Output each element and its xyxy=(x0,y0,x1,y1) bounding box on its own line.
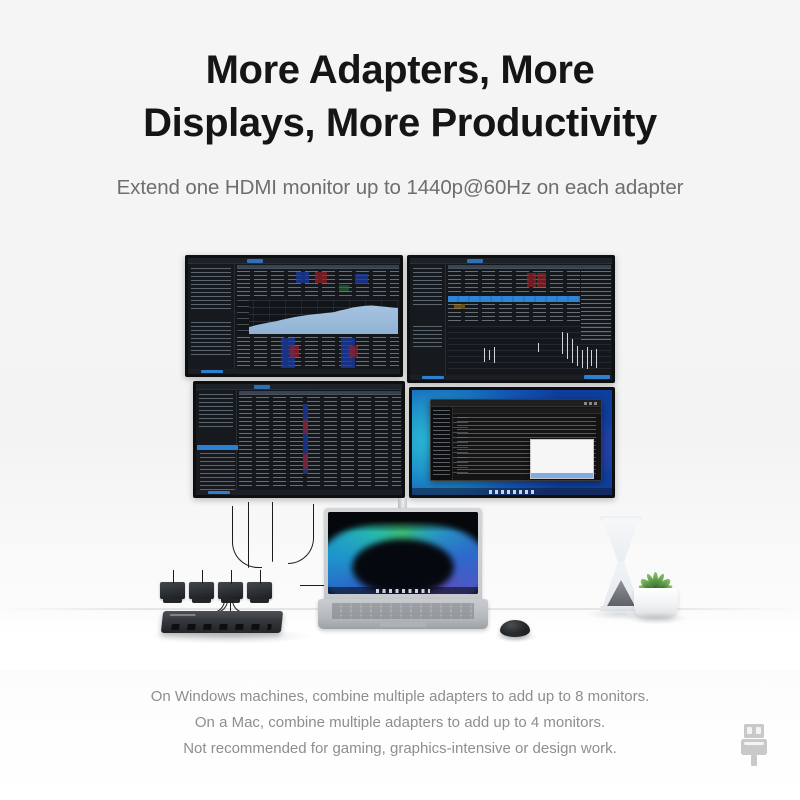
candle xyxy=(582,350,583,368)
area-chart xyxy=(237,300,398,334)
sidebar-selected-row xyxy=(197,445,238,450)
sidebar-tree-2 xyxy=(413,326,442,348)
candle xyxy=(562,332,563,354)
headline-line-2: Displays, More Productivity xyxy=(0,97,800,150)
monitor-top-left-screen xyxy=(188,258,400,374)
heat-cell xyxy=(315,272,327,283)
hourglass-top-bulb xyxy=(602,518,640,562)
candle xyxy=(489,350,490,360)
app-statusbar xyxy=(188,369,400,374)
selected-row-band xyxy=(448,296,579,302)
caption-line-3: Not recommended for gaming, graphics-int… xyxy=(0,736,800,762)
hdmi-adapter xyxy=(218,582,243,599)
heat-cell xyxy=(527,273,536,287)
monitor-cable xyxy=(288,504,314,564)
heat-cell xyxy=(349,346,358,357)
editor-tabbar xyxy=(453,408,601,414)
hdmi-adapter xyxy=(160,582,185,599)
sidebar-tree xyxy=(191,268,231,310)
laptop-taskbar[interactable] xyxy=(328,587,478,594)
usb-connector-icon xyxy=(736,722,772,770)
hub-shadow xyxy=(150,628,310,644)
grid-header xyxy=(239,391,401,395)
page-title: More Adapters, More Displays, More Produ… xyxy=(0,44,800,150)
adapter-cable xyxy=(202,570,203,584)
adapter-cable xyxy=(231,570,232,584)
heat-cell xyxy=(537,273,546,287)
candle xyxy=(567,333,568,359)
candlestick-chart xyxy=(448,326,611,372)
window-titlebar xyxy=(431,400,601,407)
heat-cell xyxy=(303,454,308,470)
monitor-cable xyxy=(272,502,273,562)
data-grid-columns xyxy=(239,397,401,488)
heat-cell xyxy=(339,285,349,291)
monitor-bottom-right-screen xyxy=(412,390,612,495)
editor-line-numbers xyxy=(453,417,468,477)
subtitle: Extend one HDMI monitor up to 1440p@60Hz… xyxy=(0,176,800,200)
quote-grid-2-columns xyxy=(448,304,579,324)
laptop-taskbar-icons[interactable] xyxy=(376,589,430,593)
heat-cell xyxy=(290,346,299,357)
product-scene xyxy=(0,230,800,670)
candle xyxy=(538,343,539,352)
grid-header xyxy=(448,265,611,269)
monitor-bottom-left-screen xyxy=(196,384,402,495)
app-statusbar xyxy=(410,375,612,380)
sidebar-tree xyxy=(199,394,233,428)
plant-shadow xyxy=(624,612,688,624)
candle xyxy=(484,348,485,362)
sidebar-tree-2 xyxy=(200,453,235,493)
chart-y-axis xyxy=(237,300,249,334)
candle xyxy=(591,350,592,366)
candle xyxy=(494,347,495,363)
succulent-plant xyxy=(628,560,684,618)
hdmi-adapter xyxy=(189,582,214,599)
monitor-bottom-right xyxy=(409,387,615,498)
windows-taskbar[interactable] xyxy=(412,488,612,495)
grid-header xyxy=(237,265,399,269)
sidebar-tree xyxy=(413,268,442,308)
monitor-wall xyxy=(185,255,615,505)
code-editor-window xyxy=(430,399,602,481)
footnote-caption: On Windows machines, combine multiple ad… xyxy=(0,684,800,761)
candle xyxy=(577,346,578,366)
quote-grid-columns xyxy=(448,271,579,295)
laptop-base xyxy=(318,599,488,629)
monitor-top-left xyxy=(185,255,403,377)
heat-cell xyxy=(454,304,465,309)
laptop-trackpad[interactable] xyxy=(380,620,426,627)
laptop-lid xyxy=(324,508,482,601)
laptop-screen xyxy=(328,512,478,594)
headline-line-1: More Adapters, More xyxy=(0,44,800,97)
app-sidebar xyxy=(410,264,446,380)
monitor-top-right-screen xyxy=(410,258,612,380)
mouse-shadow xyxy=(494,632,538,642)
app-statusbar xyxy=(196,490,402,495)
laptop xyxy=(318,508,488,633)
candle xyxy=(596,349,597,368)
heat-cell xyxy=(296,272,309,283)
taskbar-icons[interactable] xyxy=(489,490,535,494)
monitor-top-right xyxy=(407,255,615,383)
laptop-keyboard[interactable] xyxy=(332,603,474,619)
heat-cell xyxy=(355,274,368,284)
wallpaper-vignette xyxy=(328,512,478,532)
caption-line-2: On a Mac, combine multiple adapters to a… xyxy=(0,710,800,736)
window-sidebar xyxy=(431,407,453,480)
adapter-cable xyxy=(260,570,261,584)
product-feature-banner: More Adapters, More Displays, More Produ… xyxy=(0,0,800,800)
monitor-bottom-left xyxy=(193,381,405,498)
candle xyxy=(587,347,588,369)
heat-cell xyxy=(303,420,308,434)
statusbar-highlight xyxy=(584,375,610,379)
adapter-cable xyxy=(173,570,174,584)
data-grid-bottom-columns xyxy=(237,337,399,370)
caption-line-1: On Windows machines, combine multiple ad… xyxy=(0,684,800,710)
hdmi-adapter xyxy=(247,582,272,599)
candle xyxy=(572,339,573,363)
file-tree xyxy=(433,410,450,477)
monitor-cable xyxy=(232,506,262,568)
sidebar-tree-2 xyxy=(191,322,231,358)
app-sidebar xyxy=(188,264,235,374)
modal-dialog[interactable] xyxy=(530,439,595,479)
